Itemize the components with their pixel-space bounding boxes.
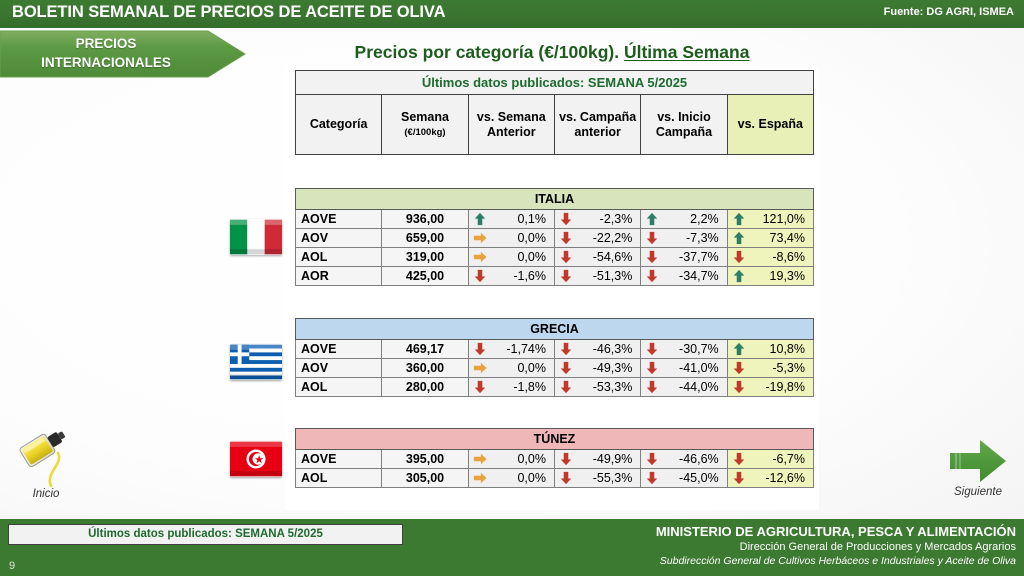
country-title-tunez: TÚNEZ <box>296 429 814 450</box>
arrow-up-icon <box>732 269 746 283</box>
cell-vs-semana-anterior: -1,6% <box>468 267 554 286</box>
arrow-flat-icon <box>473 250 487 264</box>
arrow-down-icon <box>732 452 746 466</box>
table-row: ITALIA <box>296 189 814 210</box>
table-row: AOL319,000,0%-54,6%-37,7%-8,6% <box>296 248 814 267</box>
value-text: -46,6% <box>679 452 719 466</box>
arrow-down-icon <box>645 452 659 466</box>
table-row: AOR425,00-1,6%-51,3%-34,7%19,3% <box>296 267 814 286</box>
greece-flag <box>230 344 282 380</box>
value-text: -1,74% <box>506 342 546 356</box>
cell-precio-semana: 305,00 <box>382 469 468 488</box>
section-tab-label: PRECIOS INTERNACIONALES <box>0 34 212 72</box>
cell-vs-inicio-campana: -41,0% <box>641 359 727 378</box>
value-text: 0,1% <box>517 212 546 226</box>
page-title: Precios por categoría (€/100kg). Última … <box>285 42 819 63</box>
cell-precio-semana: 469,17 <box>382 340 468 359</box>
nav-siguiente[interactable]: Siguiente <box>932 437 1024 498</box>
cell-categoria: AOL <box>296 469 382 488</box>
cell-precio-semana: 936,00 <box>382 210 468 229</box>
cell-vs-campana-anterior: -55,3% <box>554 469 640 488</box>
value-text: -49,9% <box>593 452 633 466</box>
table-row: AOL305,000,0%-55,3%-45,0%-12,6% <box>296 469 814 488</box>
section-tab-line1: PRECIOS <box>0 34 212 53</box>
value-text: -45,0% <box>679 471 719 485</box>
value-text: -34,7% <box>679 269 719 283</box>
cell-vs-inicio-campana: -7,3% <box>641 229 727 248</box>
table-tnez: TÚNEZAOVE395,000,0%-49,9%-46,6%-6,7%AOL3… <box>295 428 814 488</box>
arrow-up-icon <box>732 342 746 356</box>
cell-vs-semana-anterior: -1,74% <box>468 340 554 359</box>
arrow-down-icon <box>559 342 573 356</box>
page-number: 9 <box>9 560 15 572</box>
value-text: -53,3% <box>593 380 633 394</box>
top-header-bar: BOLETIN SEMANAL DE PRECIOS DE ACEITE DE … <box>0 0 1024 28</box>
arrow-down-icon <box>645 269 659 283</box>
arrow-down-icon <box>645 250 659 264</box>
cell-vs-espana: -6,7% <box>727 450 813 469</box>
cell-categoria: AOVE <box>296 210 382 229</box>
cell-vs-espana: 19,3% <box>727 267 813 286</box>
cell-precio-semana: 360,00 <box>382 359 468 378</box>
country-title-grecia: GRECIA <box>296 319 814 340</box>
value-text: -41,0% <box>679 361 719 375</box>
value-text: 10,8% <box>770 342 805 356</box>
table-row: AOL280,00-1,8%-53,3%-44,0%-19,8% <box>296 378 814 397</box>
cell-categoria: AOV <box>296 359 382 378</box>
value-text: -8,6% <box>772 250 805 264</box>
cell-precio-semana: 425,00 <box>382 267 468 286</box>
cell-precio-semana: 319,00 <box>382 248 468 267</box>
cell-vs-espana: 10,8% <box>727 340 813 359</box>
greece-flag-icon <box>230 344 282 380</box>
source-label: Fuente: DG AGRI, ISMEA <box>884 6 1014 18</box>
value-text: 19,3% <box>770 269 805 283</box>
value-text: -5,3% <box>772 361 805 375</box>
cell-vs-semana-anterior: 0,0% <box>468 359 554 378</box>
country-title-italia: ITALIA <box>296 189 814 210</box>
arrow-flat-icon <box>473 231 487 245</box>
cell-vs-espana: -12,6% <box>727 469 813 488</box>
arrow-down-icon <box>559 361 573 375</box>
arrow-down-icon <box>559 231 573 245</box>
cell-vs-campana-anterior: -49,3% <box>554 359 640 378</box>
col-header-vs-campana-anterior: vs. Campaña anterior <box>554 95 640 155</box>
cell-vs-campana-anterior: -22,2% <box>554 229 640 248</box>
cell-vs-semana-anterior: 0,0% <box>468 469 554 488</box>
value-text: 0,0% <box>517 471 546 485</box>
cell-categoria: AOL <box>296 378 382 397</box>
bulletin-title: BOLETIN SEMANAL DE PRECIOS DE ACEITE DE … <box>12 3 445 22</box>
cell-vs-espana: -19,8% <box>727 378 813 397</box>
ministry-line-1: MINISTERIO DE AGRICULTURA, PESCA Y ALIME… <box>476 524 1016 540</box>
cell-vs-espana: -8,6% <box>727 248 813 267</box>
cell-vs-semana-anterior: -1,8% <box>468 378 554 397</box>
value-text: -30,7% <box>679 342 719 356</box>
ministry-line-2: Dirección General de Producciones y Merc… <box>476 540 1016 554</box>
table-row: AOVE395,000,0%-49,9%-46,6%-6,7% <box>296 450 814 469</box>
cell-categoria: AOVE <box>296 340 382 359</box>
arrow-down-icon <box>559 452 573 466</box>
cell-vs-semana-anterior: 0,0% <box>468 450 554 469</box>
cell-categoria: AOR <box>296 267 382 286</box>
value-text: -2,3% <box>600 212 633 226</box>
table-row: AOVE936,000,1%-2,3%2,2%121,0% <box>296 210 814 229</box>
value-text: -1,8% <box>513 380 546 394</box>
arrow-down-icon <box>559 471 573 485</box>
arrow-down-icon <box>732 250 746 264</box>
value-text: -22,2% <box>593 231 633 245</box>
arrow-flat-icon <box>473 471 487 485</box>
cell-vs-semana-anterior: 0,1% <box>468 210 554 229</box>
value-text: 121,0% <box>763 212 805 226</box>
cell-vs-semana-anterior: 0,0% <box>468 229 554 248</box>
cell-vs-campana-anterior: -54,6% <box>554 248 640 267</box>
value-text: 2,2% <box>690 212 719 226</box>
nav-siguiente-label: Siguiente <box>932 486 1024 498</box>
value-text: -1,6% <box>513 269 546 283</box>
arrow-up-icon <box>732 212 746 226</box>
nav-inicio[interactable]: Inicio <box>0 425 92 500</box>
value-text: -51,3% <box>593 269 633 283</box>
nav-inicio-label: Inicio <box>0 488 92 500</box>
page-title-underlined: Última Semana <box>624 42 749 62</box>
page-title-main: Precios por categoría (€/100kg). <box>355 42 624 62</box>
arrow-down-icon <box>732 471 746 485</box>
col-header-semana-units: (€/100kg) <box>382 125 467 140</box>
arrow-down-icon <box>645 380 659 394</box>
arrow-down-icon <box>559 269 573 283</box>
col-header-semana-label: Semana <box>401 110 449 124</box>
col-header-semana: Semana (€/100kg) <box>382 95 468 155</box>
cell-vs-campana-anterior: -46,3% <box>554 340 640 359</box>
table-row: TÚNEZ <box>296 429 814 450</box>
italy-flag <box>230 219 282 255</box>
arrow-down-icon <box>645 471 659 485</box>
value-text: -7,3% <box>686 231 719 245</box>
table-row: GRECIA <box>296 319 814 340</box>
col-header-categoria: Categoría <box>296 95 382 155</box>
cell-vs-inicio-campana: -44,0% <box>641 378 727 397</box>
section-tab-line2: INTERNACIONALES <box>0 53 212 72</box>
cell-vs-espana: 73,4% <box>727 229 813 248</box>
footer-published-note: Últimos datos publicados: SEMANA 5/2025 <box>8 524 403 545</box>
arrow-down-icon <box>559 380 573 394</box>
table-grecia: GRECIAAOVE469,17-1,74%-46,3%-30,7%10,8%A… <box>295 318 814 397</box>
cell-vs-inicio-campana: -46,6% <box>641 450 727 469</box>
arrow-down-icon <box>645 342 659 356</box>
value-text: -44,0% <box>679 380 719 394</box>
arrow-down-icon <box>732 361 746 375</box>
slide-canvas: BOLETIN SEMANAL DE PRECIOS DE ACEITE DE … <box>0 0 1024 576</box>
italy-flag-icon <box>230 219 282 255</box>
ministry-block: MINISTERIO DE AGRICULTURA, PESCA Y ALIME… <box>476 524 1016 568</box>
arrow-up-icon <box>732 231 746 245</box>
cell-vs-campana-anterior: -53,3% <box>554 378 640 397</box>
table-row: AOV659,000,0%-22,2%-7,3%73,4% <box>296 229 814 248</box>
cell-precio-semana: 659,00 <box>382 229 468 248</box>
cell-vs-inicio-campana: -30,7% <box>641 340 727 359</box>
arrow-up-icon <box>473 212 487 226</box>
table-italia: ITALIAAOVE936,000,1%-2,3%2,2%121,0%AOV65… <box>295 188 814 286</box>
arrow-down-icon <box>473 342 487 356</box>
arrow-down-icon <box>645 361 659 375</box>
tunisia-flag-icon <box>230 441 282 477</box>
arrow-down-icon <box>559 212 573 226</box>
cell-categoria: AOVE <box>296 450 382 469</box>
section-tab-precios-internacionales[interactable]: PRECIOS INTERNACIONALES <box>0 30 246 78</box>
value-text: -37,7% <box>679 250 719 264</box>
value-text: -46,3% <box>593 342 633 356</box>
cell-vs-espana: 121,0% <box>727 210 813 229</box>
cell-vs-inicio-campana: -45,0% <box>641 469 727 488</box>
col-header-vs-espana: vs. España <box>727 95 813 155</box>
value-text: -12,6% <box>765 471 805 485</box>
arrow-up-icon <box>645 212 659 226</box>
arrow-flat-icon <box>473 452 487 466</box>
cell-vs-campana-anterior: -2,3% <box>554 210 640 229</box>
table-row: Categoría Semana (€/100kg) vs. Semana An… <box>296 95 814 155</box>
cell-categoria: AOV <box>296 229 382 248</box>
cell-vs-inicio-campana: -34,7% <box>641 267 727 286</box>
arrow-down-icon <box>559 250 573 264</box>
arrow-flat-icon <box>473 361 487 375</box>
arrow-down-icon <box>473 269 487 283</box>
tunisia-flag <box>230 441 282 477</box>
cell-vs-semana-anterior: 0,0% <box>468 248 554 267</box>
value-text: -55,3% <box>593 471 633 485</box>
cell-vs-espana: -5,3% <box>727 359 813 378</box>
col-header-vs-inicio-campana: vs. Inicio Campaña <box>641 95 727 155</box>
value-text: -19,8% <box>765 380 805 394</box>
table-header-legend: Últimos datos publicados: SEMANA 5/2025 … <box>295 70 814 155</box>
value-text: 0,0% <box>517 231 546 245</box>
arrow-right-icon <box>948 437 1008 485</box>
value-text: 0,0% <box>517 250 546 264</box>
value-text: 73,4% <box>770 231 805 245</box>
cell-vs-campana-anterior: -49,9% <box>554 450 640 469</box>
arrow-down-icon <box>645 231 659 245</box>
ministry-line-3: Subdirección General de Cultivos Herbáce… <box>476 554 1016 568</box>
cell-vs-campana-anterior: -51,3% <box>554 267 640 286</box>
arrow-down-icon <box>473 380 487 394</box>
published-data-banner: Últimos datos publicados: SEMANA 5/2025 <box>296 71 814 95</box>
arrow-down-icon <box>732 380 746 394</box>
cell-vs-inicio-campana: -37,7% <box>641 248 727 267</box>
table-row: AOV360,000,0%-49,3%-41,0%-5,3% <box>296 359 814 378</box>
col-header-vs-semana-anterior: vs. Semana Anterior <box>468 95 554 155</box>
olive-oil-bottle-icon <box>18 425 74 487</box>
value-text: 0,0% <box>517 452 546 466</box>
cell-precio-semana: 395,00 <box>382 450 468 469</box>
cell-precio-semana: 280,00 <box>382 378 468 397</box>
table-row: AOVE469,17-1,74%-46,3%-30,7%10,8% <box>296 340 814 359</box>
cell-vs-inicio-campana: 2,2% <box>641 210 727 229</box>
value-text: -49,3% <box>593 361 633 375</box>
cell-categoria: AOL <box>296 248 382 267</box>
value-text: -54,6% <box>593 250 633 264</box>
value-text: -6,7% <box>772 452 805 466</box>
value-text: 0,0% <box>517 361 546 375</box>
table-row: Últimos datos publicados: SEMANA 5/2025 <box>296 71 814 95</box>
